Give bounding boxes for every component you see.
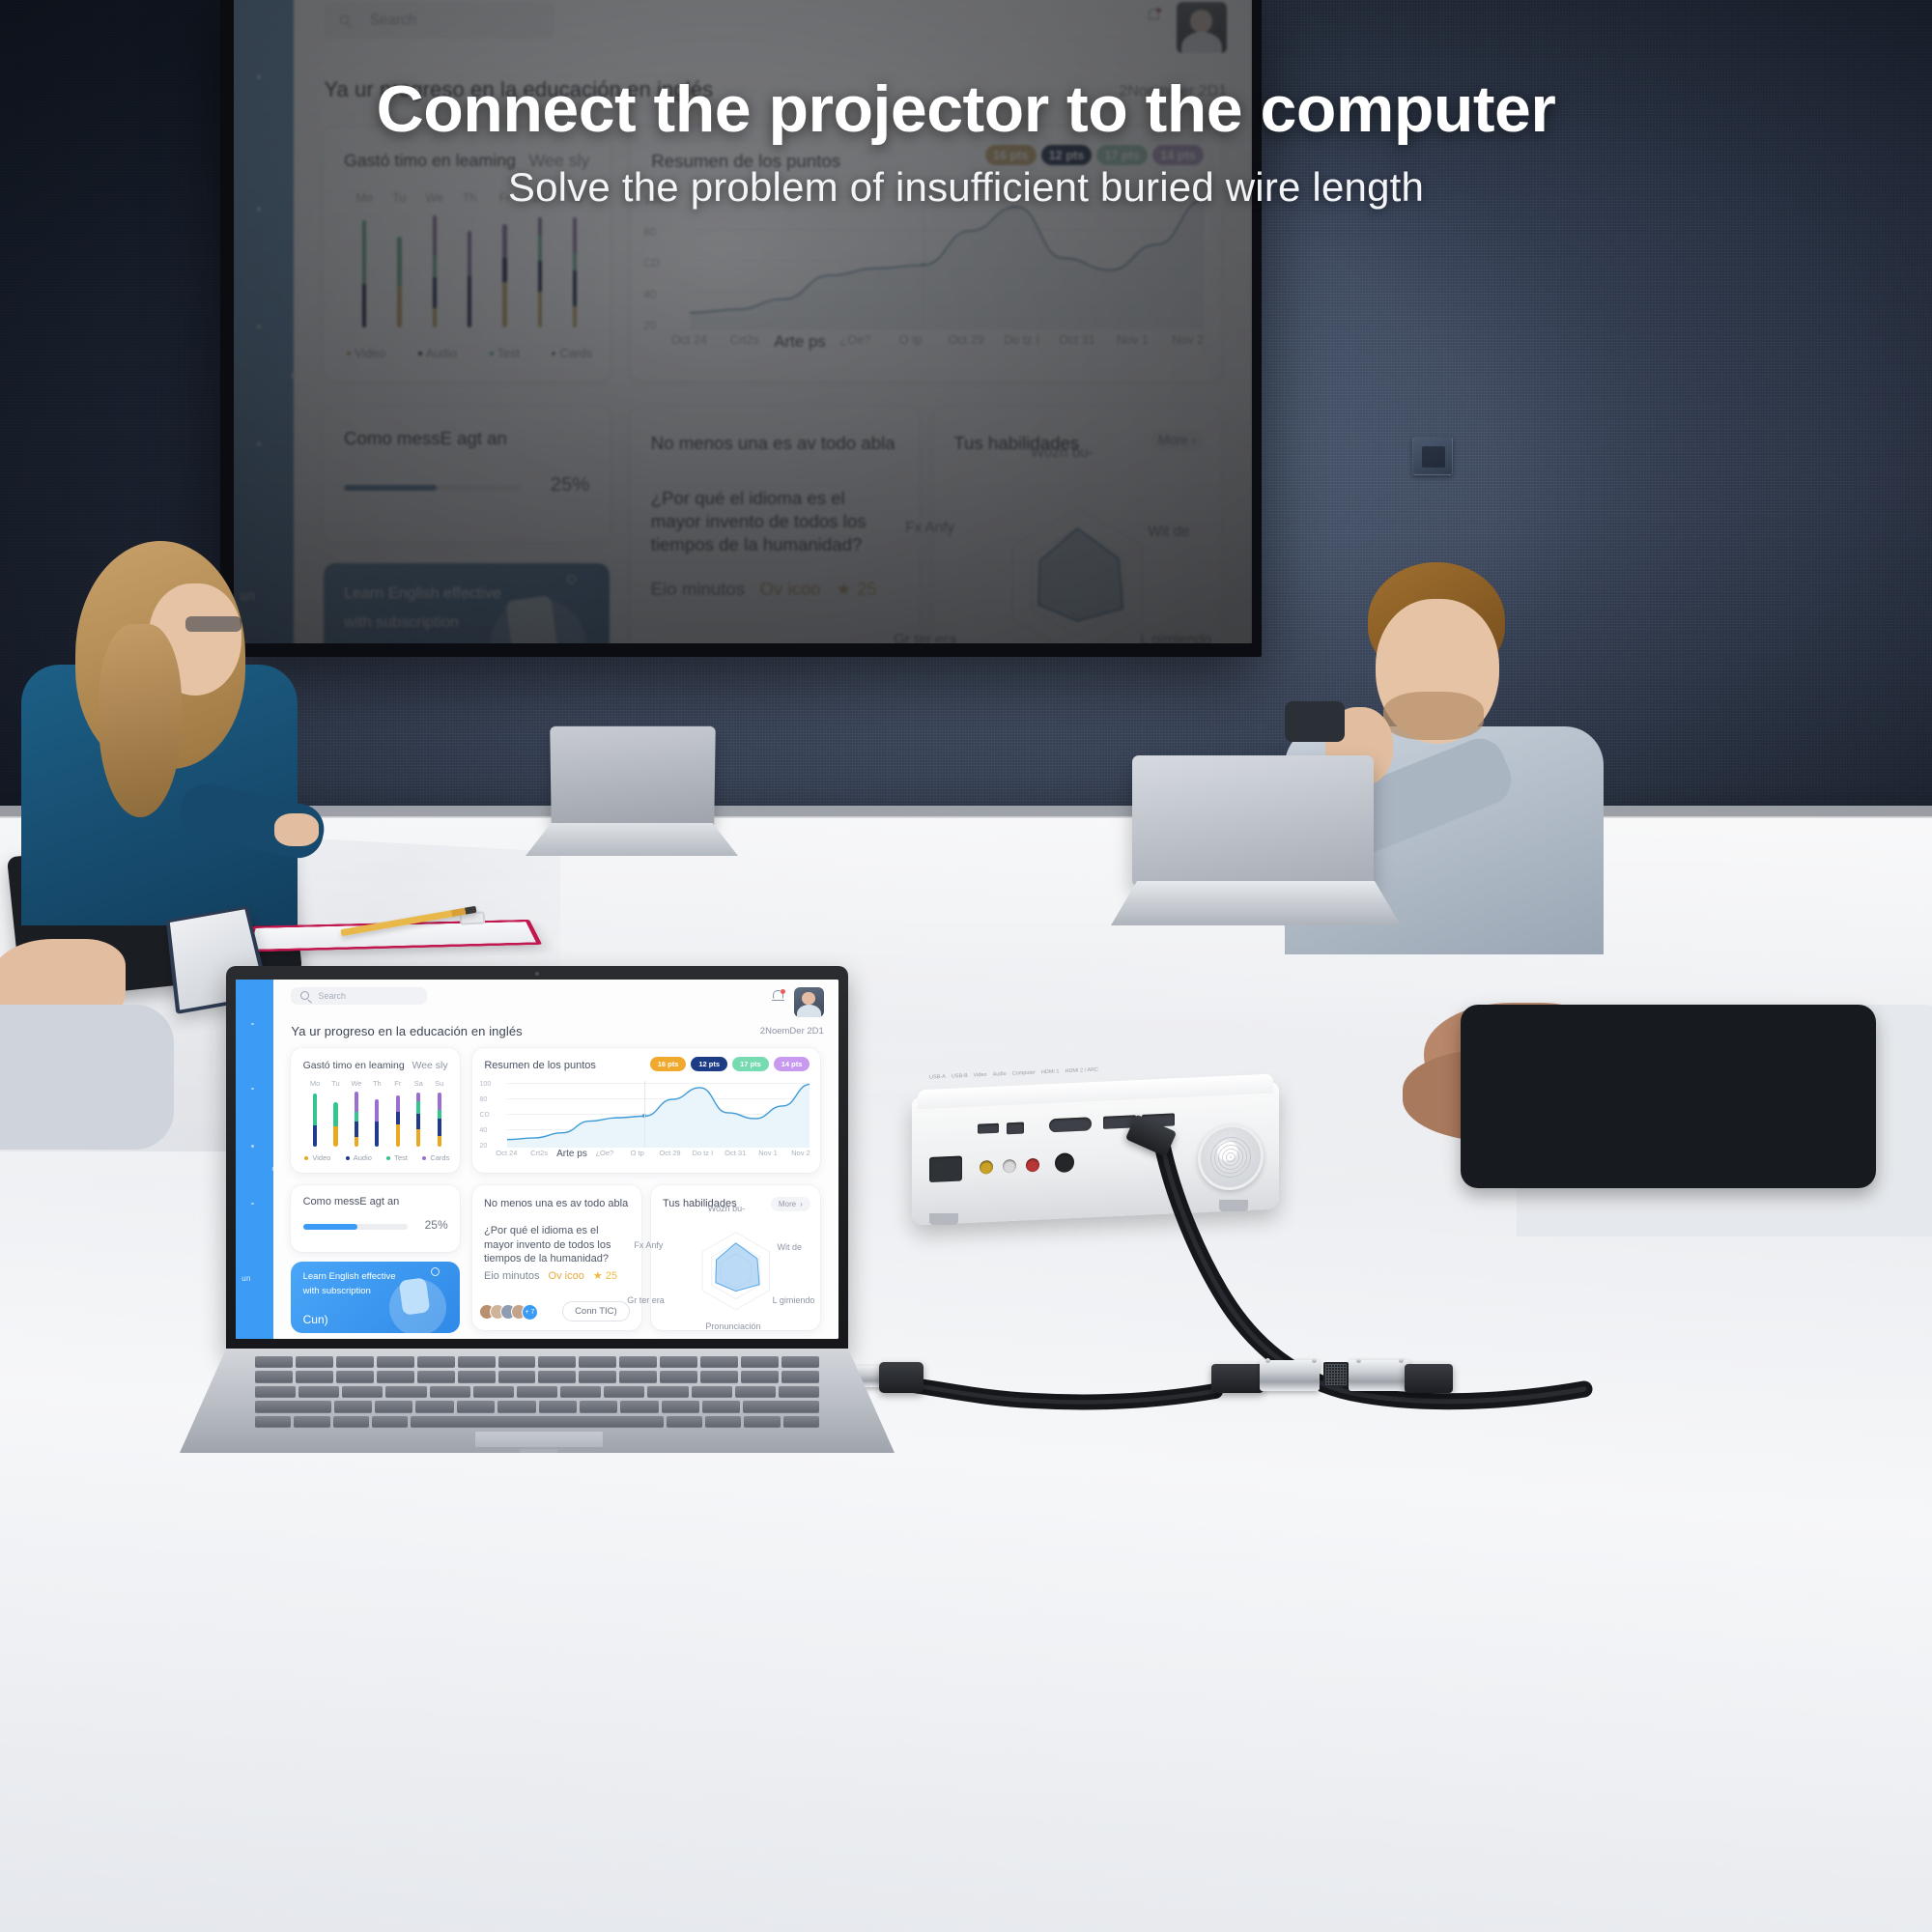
key[interactable] [458, 1356, 496, 1368]
card-progress: Como messE agt an25% [291, 1185, 459, 1252]
key[interactable] [333, 1416, 369, 1428]
bar-segment-test [438, 1110, 441, 1118]
question-time: Eio minutos [484, 1270, 539, 1282]
key[interactable] [539, 1401, 577, 1412]
key[interactable] [498, 1371, 536, 1382]
laptop-keyboard[interactable] [255, 1356, 819, 1428]
bar-segment-video [416, 1129, 420, 1147]
key[interactable] [781, 1356, 819, 1368]
key[interactable] [255, 1371, 293, 1382]
laptop-right-lid [1132, 755, 1374, 887]
legend-item-cards: Cards [422, 1153, 449, 1162]
coupler-screw-4 [1399, 1358, 1404, 1363]
key[interactable] [619, 1371, 657, 1382]
key[interactable] [620, 1401, 658, 1412]
key[interactable] [336, 1356, 374, 1368]
bar-stack [313, 1094, 317, 1147]
question-meta: Eio minutosOv icoo★ 25 [484, 1269, 630, 1282]
key[interactable] [517, 1386, 557, 1398]
legend-label: Video [312, 1153, 330, 1162]
page-date: 2NoemDer 2D1 [760, 1026, 824, 1037]
key[interactable] [417, 1371, 455, 1382]
points-pills: 16 pts12 pts17 pts14 pts [645, 1057, 810, 1071]
key[interactable] [497, 1401, 535, 1412]
person-left-hand [274, 813, 319, 846]
bar-x-label: Mo [306, 1079, 324, 1088]
card-subtitle-week: Wee sly [412, 1060, 447, 1071]
y-tick: 40 [480, 1127, 488, 1134]
bar-x-label: Sa [410, 1079, 427, 1088]
line-series [507, 1081, 810, 1148]
headline: Connect the projector to the computer [0, 71, 1932, 147]
bell-icon[interactable] [772, 990, 784, 1003]
bar-stack [333, 1102, 337, 1147]
bar-stack [416, 1093, 420, 1147]
laptop-far-left [526, 726, 738, 871]
key[interactable] [498, 1356, 536, 1368]
radar-chart: Wozn bu-Wit deL gimiendoPronunciaciónGr … [678, 1220, 793, 1321]
coupler-screw-3 [1356, 1358, 1361, 1363]
line-x-axis: Oct 24Crt2sArte ps¿Oe?O tpOct 29Do tz IO… [503, 1149, 810, 1166]
pill-17-pts[interactable]: 17 pts [732, 1057, 769, 1071]
bar-segment-cards [396, 1095, 400, 1112]
key[interactable] [342, 1386, 383, 1398]
subheadline: Solve the problem of insufficient buried… [0, 164, 1932, 211]
sidebar-item-3[interactable] [251, 1203, 254, 1206]
pill-14-pts[interactable]: 14 pts [774, 1057, 810, 1071]
legend-label: Audio [354, 1153, 372, 1162]
y-tick: 80 [480, 1096, 488, 1103]
search-placeholder: Search [319, 991, 347, 1001]
progress-bar [303, 1224, 408, 1230]
projector-foot-left [929, 1213, 958, 1225]
top-bar: Search [273, 980, 838, 1014]
y-tick: 100 [480, 1081, 492, 1088]
promo-line-2: with subscription [303, 1286, 371, 1298]
webcam-icon [535, 972, 539, 976]
question-user: Ov icoo [549, 1270, 584, 1282]
line-chart: 10080CD4020 [507, 1081, 810, 1148]
avatar[interactable] [794, 987, 824, 1017]
bar-segment-audio [313, 1125, 317, 1147]
key[interactable] [385, 1386, 426, 1398]
pill-16-pts[interactable]: 16 pts [650, 1057, 687, 1071]
key[interactable] [417, 1356, 455, 1368]
laptop-right-base [1111, 881, 1401, 925]
keyboard-row-1 [255, 1371, 819, 1382]
audio-jack-port [1055, 1152, 1074, 1173]
pill-12-pts[interactable]: 12 pts [691, 1057, 727, 1071]
person-left-hair-strand [99, 624, 182, 817]
key[interactable] [662, 1401, 699, 1412]
card-title-points: Resumen de los puntos [484, 1060, 596, 1071]
line-marker-rule [644, 1081, 645, 1148]
key[interactable] [560, 1386, 601, 1398]
key[interactable] [744, 1416, 780, 1428]
coupler-hood-right [1405, 1364, 1453, 1393]
x-tick: Arte ps [554, 1149, 590, 1159]
key[interactable] [415, 1401, 453, 1412]
key[interactable] [741, 1356, 779, 1368]
y-tick: CD [480, 1112, 490, 1119]
port-label-3: Audio [993, 1071, 1007, 1078]
vga-port [1049, 1117, 1092, 1132]
x-tick: ¿Oe? [586, 1149, 623, 1157]
coupler-metal-left [1260, 1360, 1320, 1391]
chevron-right-icon: › [800, 1200, 803, 1208]
laptop-far-base [526, 823, 738, 856]
key[interactable] [743, 1401, 819, 1412]
key[interactable] [375, 1401, 412, 1412]
coupler-hood-left [1211, 1364, 1264, 1393]
x-tick: O tp [619, 1149, 656, 1157]
x-tick: Oct 24 [488, 1149, 525, 1157]
bar-segment-video [396, 1124, 400, 1147]
sidebar-label-2: un [241, 1274, 251, 1283]
keyboard-row-3 [255, 1401, 819, 1412]
sidebar-rail[interactable] [236, 980, 273, 1339]
radar-axis-label: Fx Anfy [634, 1240, 663, 1250]
key[interactable] [255, 1386, 296, 1398]
key[interactable] [783, 1416, 819, 1428]
bar-segment-cards [355, 1092, 358, 1112]
bar-stack [438, 1093, 441, 1147]
power-port [929, 1155, 962, 1182]
chair-right [1461, 1005, 1876, 1188]
bar-x-label: Th [368, 1079, 385, 1088]
audio-l-rca-port [1003, 1159, 1016, 1174]
person-right-watch [1285, 701, 1345, 742]
page-title: Ya ur progreso en la educación en inglés [291, 1024, 522, 1038]
key[interactable] [692, 1386, 732, 1398]
legend-dot [422, 1156, 426, 1160]
radar-axis-label: Pronunciación [705, 1321, 760, 1331]
key[interactable] [705, 1416, 741, 1428]
y-tick: 20 [480, 1143, 488, 1150]
bar-x-label: Tu [327, 1079, 345, 1088]
laptop-screen: dunSearchYa ur progreso en la educación … [236, 980, 838, 1339]
legend-label: Test [394, 1153, 408, 1162]
card-skills: Tus habilidadesMore›Wozn bu-Wit deL gimi… [651, 1185, 821, 1331]
promo-mascot [398, 1277, 430, 1315]
bar-segment-video [333, 1126, 337, 1147]
legend-dot [346, 1156, 350, 1160]
legend-item-video: Video [304, 1153, 330, 1162]
laptop-trackpad[interactable] [475, 1432, 603, 1447]
audio-r-rca-port [1026, 1158, 1039, 1173]
laptop-lid: dunSearchYa ur progreso en la educación … [226, 966, 848, 1352]
key[interactable] [430, 1386, 470, 1398]
port-label-5: HDMI 1 [1041, 1068, 1060, 1075]
cable-coupler[interactable] [1211, 1350, 1455, 1405]
foreground-sleeve [0, 1005, 174, 1150]
key[interactable] [336, 1371, 374, 1382]
key[interactable] [372, 1416, 408, 1428]
projector: USB-AUSB-BVideoAudioComputerHDMI 1HDMI 2… [912, 1082, 1318, 1256]
bar-segment-test [416, 1101, 420, 1114]
question-button[interactable]: Conn TIC) [562, 1301, 630, 1321]
port-label-4: Computer [1012, 1070, 1036, 1077]
legend-dot [386, 1156, 390, 1160]
card-promo[interactable]: Learn English effectivewith subscription… [291, 1262, 459, 1333]
dashboard-body: SearchYa ur progreso en la educación en … [273, 980, 838, 1339]
key[interactable] [735, 1386, 776, 1398]
sidebar-item-0[interactable] [251, 1023, 254, 1026]
key[interactable] [781, 1371, 819, 1382]
key[interactable] [255, 1416, 291, 1428]
legend-label: Cards [430, 1153, 449, 1162]
coupler-metal-right [1349, 1360, 1410, 1391]
key[interactable] [255, 1356, 293, 1368]
key[interactable] [411, 1416, 663, 1428]
radar-axis-label: L gimiendo [773, 1295, 815, 1305]
legend-dot [304, 1156, 308, 1160]
sidebar-item-1[interactable] [251, 1088, 254, 1091]
key[interactable] [660, 1356, 697, 1368]
card-title-progress: Como messE agt an [303, 1196, 400, 1207]
laptop-far-lid [550, 726, 716, 826]
keyboard-row-4 [255, 1416, 819, 1428]
legend-item-audio: Audio [346, 1153, 372, 1162]
key[interactable] [700, 1356, 738, 1368]
key[interactable] [538, 1371, 576, 1382]
progress-percent: 25% [425, 1218, 448, 1232]
question-text: ¿Por qué el idioma es el mayor invento d… [484, 1224, 630, 1265]
search-icon [300, 991, 309, 1000]
bar-x-label: Su [431, 1079, 448, 1088]
question-card-title: No menos una es av todo abla [484, 1198, 628, 1209]
sidebar-item-2[interactable] [251, 1145, 254, 1148]
x-tick: Nov 1 [750, 1149, 786, 1157]
bar-legend: VideoAudioTestCards [304, 1153, 449, 1162]
key[interactable] [294, 1416, 329, 1428]
promo-cta[interactable]: Cun) [303, 1313, 328, 1326]
x-tick: Nov 2 [782, 1149, 819, 1157]
progress-fill [303, 1224, 358, 1230]
key[interactable] [255, 1401, 331, 1412]
bar-segment-audio [375, 1122, 379, 1147]
key[interactable] [741, 1371, 779, 1382]
bar-segment-test [333, 1102, 337, 1126]
usb-b-port [1007, 1122, 1024, 1135]
bar-stack [396, 1095, 400, 1146]
person-left-woman [15, 541, 334, 908]
radar-axis-label: Gr ter era [627, 1295, 665, 1305]
bar-stack [355, 1092, 358, 1147]
key[interactable] [334, 1401, 372, 1412]
laptop-far-right [1111, 755, 1401, 949]
bar-segment-cards [438, 1093, 441, 1110]
key[interactable] [377, 1371, 414, 1382]
bar-stack [375, 1099, 379, 1147]
usb-a-port [978, 1123, 999, 1134]
coupler-chip [1323, 1362, 1349, 1387]
bar-segment-audio [396, 1112, 400, 1123]
key[interactable] [579, 1371, 616, 1382]
avatar-shoulders [797, 1005, 821, 1017]
bar-segment-audio [355, 1122, 358, 1137]
x-tick: Oct 29 [652, 1149, 689, 1157]
key[interactable] [473, 1386, 514, 1398]
key[interactable] [779, 1386, 819, 1398]
x-tick: Do tz I [684, 1149, 721, 1157]
x-tick: Oct 31 [717, 1149, 753, 1157]
key[interactable] [458, 1371, 496, 1382]
bar-segment-test [355, 1112, 358, 1122]
search-input[interactable]: Search [291, 987, 426, 1006]
skills-more-label: More [779, 1200, 796, 1208]
laptop-foreground: dunSearchYa ur progreso en la educación … [180, 966, 895, 1468]
bar-segment-video [438, 1136, 441, 1147]
facepile: + 7 [484, 1304, 538, 1321]
card-points-summary: Resumen de los puntos16 pts12 pts17 pts1… [472, 1048, 821, 1172]
key[interactable] [296, 1371, 333, 1382]
coupler-screw-1 [1265, 1358, 1270, 1363]
key[interactable] [377, 1356, 414, 1368]
projector-foot-right [1219, 1200, 1248, 1211]
key[interactable] [604, 1386, 644, 1398]
video-rca-port [980, 1160, 993, 1175]
radar-polygon [678, 1220, 793, 1321]
bar-chart: MoTuWeThFrSaSu [304, 1082, 449, 1147]
key[interactable] [298, 1386, 339, 1398]
key[interactable] [296, 1356, 333, 1368]
keyboard-row-2 [255, 1386, 819, 1398]
gear-icon[interactable] [431, 1267, 440, 1276]
key[interactable] [702, 1401, 740, 1412]
key[interactable] [619, 1356, 657, 1368]
bar-segment-test [313, 1094, 317, 1125]
bar-segment-video [355, 1137, 358, 1147]
laptop-notch [520, 1449, 558, 1453]
skills-more-button[interactable]: More› [771, 1197, 810, 1211]
bar-segment-cards [375, 1099, 379, 1122]
legend-item-test: Test [386, 1153, 408, 1162]
facepile-more[interactable]: + 7 [522, 1304, 538, 1321]
card-title-time-spent: Gastó timo en leaming [303, 1060, 405, 1071]
radar-axis-label: Wozn bu- [708, 1204, 745, 1213]
bar-x-label: Fr [389, 1079, 407, 1088]
port-label-0: USB-A [929, 1074, 946, 1081]
person-right-beard [1383, 692, 1484, 740]
promo-line-1: Learn English effective [303, 1271, 396, 1284]
avatar-head [802, 992, 815, 1006]
keyboard-row-0 [255, 1356, 819, 1368]
key[interactable] [538, 1356, 576, 1368]
port-label-1: USB-B [952, 1073, 968, 1080]
key[interactable] [580, 1401, 617, 1412]
bar-x-label: We [348, 1079, 365, 1088]
bar-segment-audio [416, 1114, 420, 1129]
card-time-spent: Gastó timo en leamingWee slyMoTuWeThFrSa… [291, 1048, 459, 1172]
x-tick: Crt2s [521, 1149, 557, 1157]
coupler-screw-2 [1312, 1358, 1317, 1363]
product-marketing-scene: dunSearchYa ur progreso en la educación … [0, 0, 1932, 1932]
key[interactable] [457, 1401, 495, 1412]
person-left-glasses [185, 616, 241, 632]
key[interactable] [647, 1386, 688, 1398]
question-score: ★ 25 [593, 1269, 617, 1282]
card-question: No menos una es av todo abla¿Por qué el … [472, 1185, 642, 1331]
key[interactable] [667, 1416, 702, 1428]
key[interactable] [660, 1371, 697, 1382]
port-label-2: Video [974, 1072, 987, 1079]
radar-axis-label: Wit de [777, 1242, 802, 1252]
key[interactable] [579, 1356, 616, 1368]
key[interactable] [700, 1371, 738, 1382]
bar-segment-audio [438, 1119, 441, 1136]
bar-segment-cards [416, 1093, 420, 1100]
